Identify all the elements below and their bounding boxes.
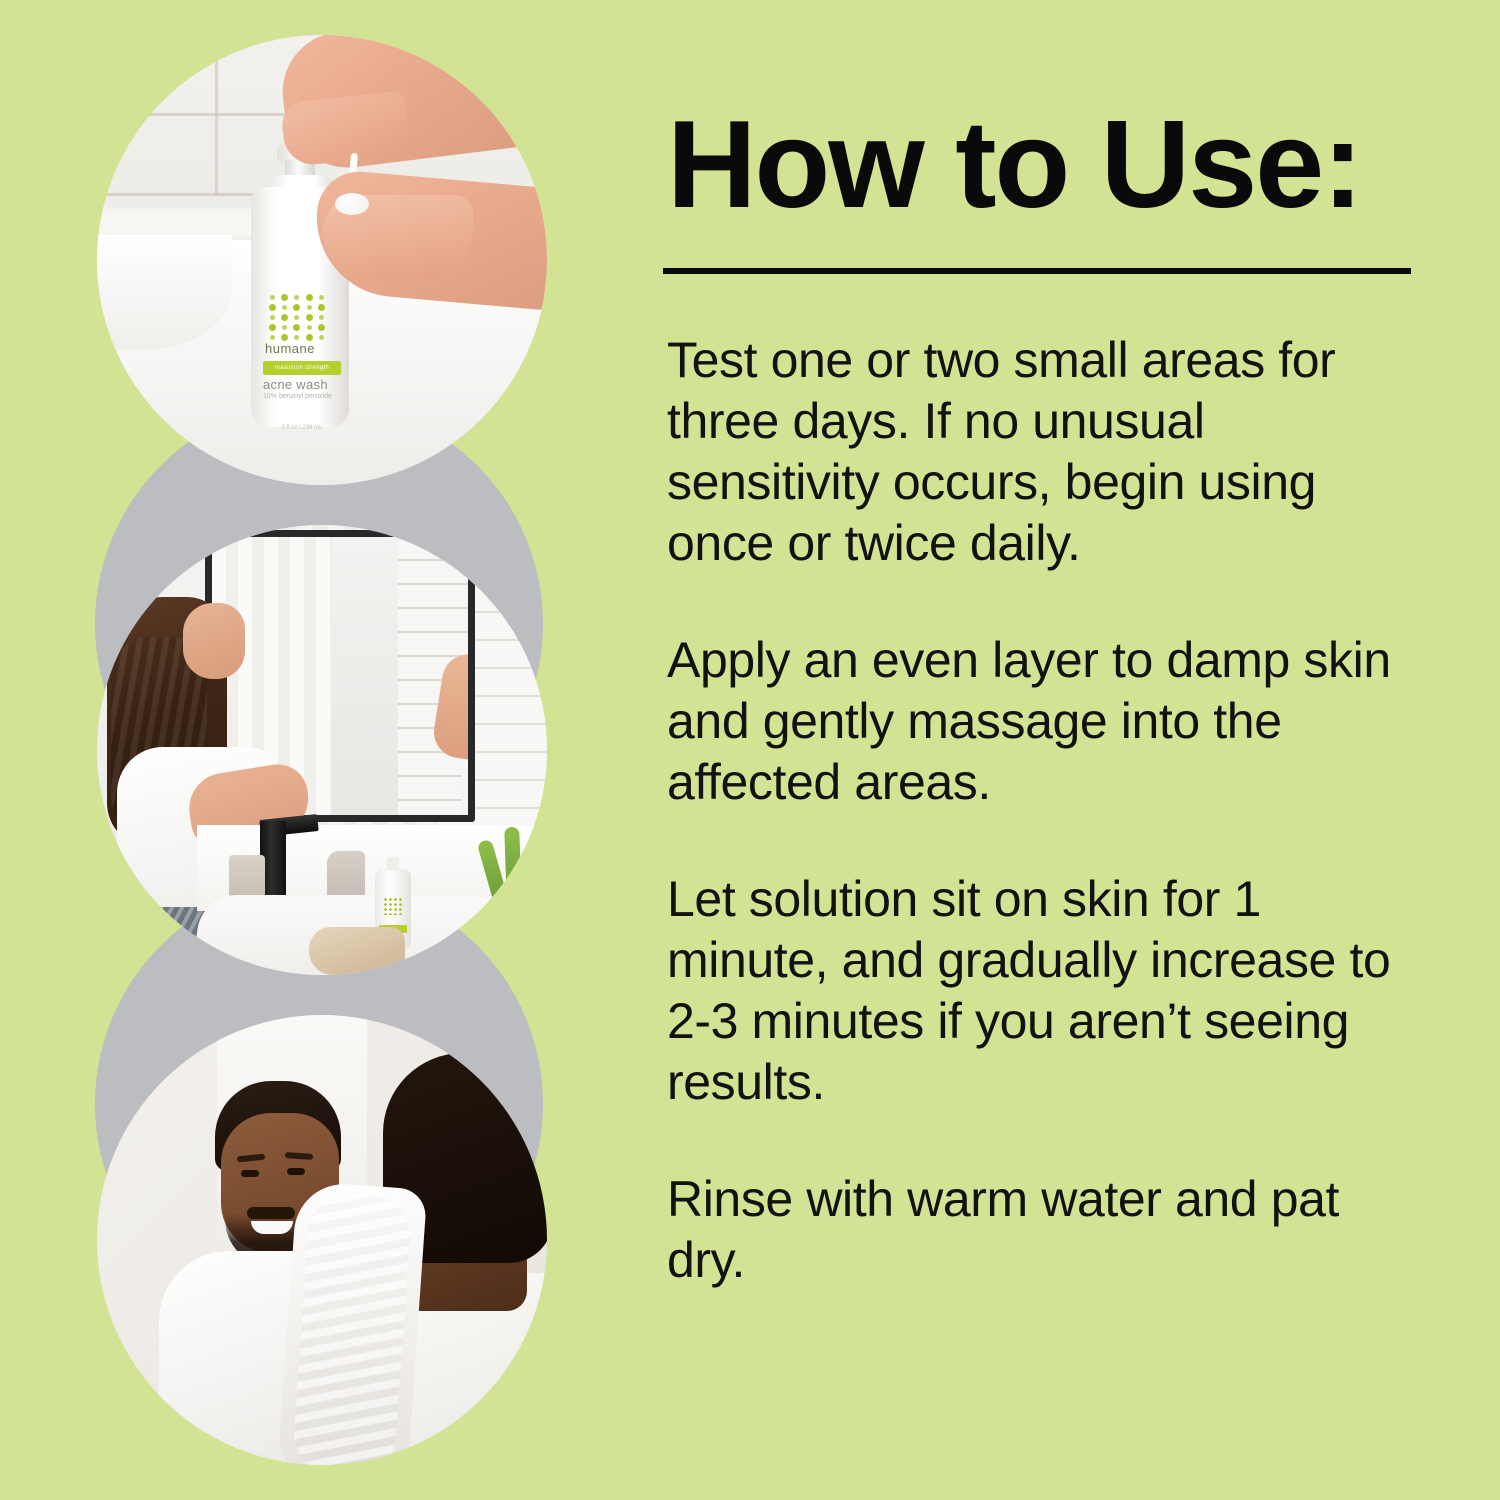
man-eye-left: [241, 1170, 259, 1177]
media-column: humane maximum strength acne wash 10% be…: [0, 0, 600, 1500]
man-eye-right: [287, 1168, 305, 1175]
tile-grout-line: [215, 35, 218, 195]
step-patch-test: Test one or two small areas for three da…: [667, 330, 1419, 574]
photo-applying: [97, 525, 547, 975]
photo-dispensing: humane maximum strength acne wash 10% be…: [97, 35, 547, 485]
brand-dot-logo: [383, 897, 403, 915]
bottle-volume-label: 8 fl oz / 236 mL: [267, 425, 337, 431]
bottle-product-subtitle: 10% benzoyl peroxide: [263, 393, 347, 400]
photo-patting-dry: [97, 1015, 547, 1465]
page-root: humane maximum strength acne wash 10% be…: [0, 0, 1500, 1500]
man-smile: [251, 1221, 293, 1234]
aloe-plant: [487, 811, 541, 931]
woman-face: [183, 603, 245, 679]
product-foam-blob: [335, 193, 369, 215]
white-towel: [277, 1181, 428, 1465]
step-rinse: Rinse with warm water and pat dry.: [667, 1169, 1419, 1291]
man-moustache: [247, 1207, 295, 1219]
reflection-hair: [470, 569, 475, 729]
bottle-strength-band: maximum strength: [263, 361, 341, 375]
step-apply: Apply an even layer to damp skin and gen…: [667, 630, 1419, 813]
bottle-strength-label: maximum strength: [263, 361, 341, 375]
step-wait: Let solution sit on skin for 1 minute, a…: [667, 869, 1419, 1113]
brand-dot-logo: [267, 293, 327, 341]
steps-list: Test one or two small areas for three da…: [667, 330, 1419, 1291]
bottle-brand-name: humane: [265, 341, 337, 356]
instructions-panel: How to Use: Test one or two small areas …: [663, 0, 1423, 1500]
title-divider: [663, 268, 1411, 274]
bottle-product-name: acne wash: [263, 377, 343, 392]
page-title: How to Use:: [667, 100, 1361, 230]
folded-towel: [309, 927, 405, 975]
